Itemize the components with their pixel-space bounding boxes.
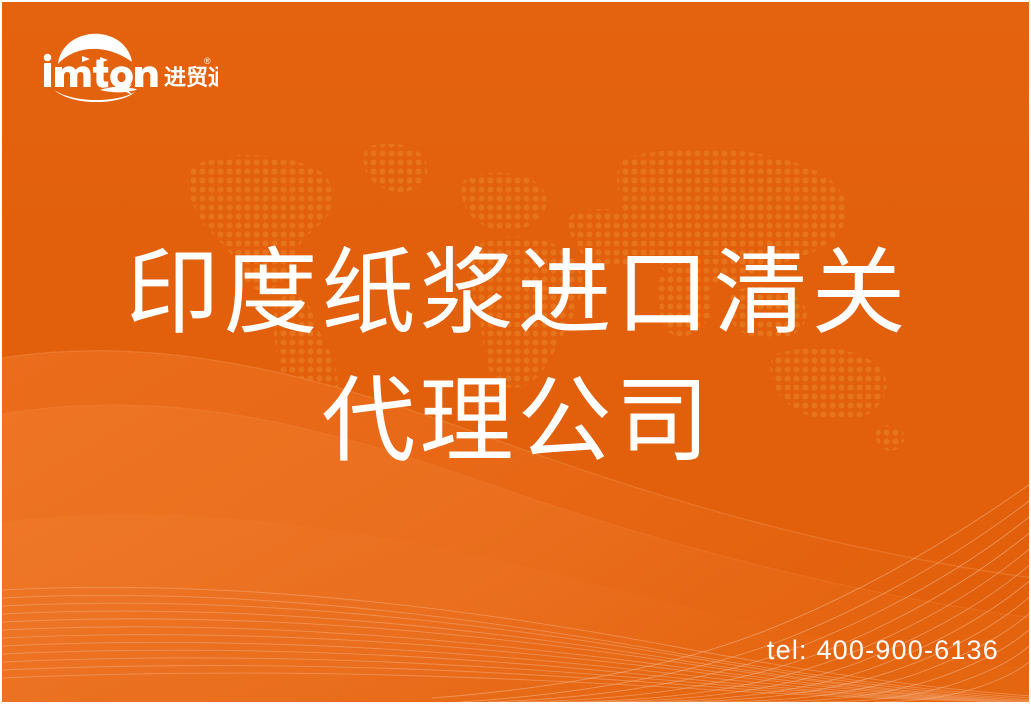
logo-chinese-name: 进贸通: [164, 66, 218, 91]
title-line-2: 代理公司: [2, 358, 1031, 486]
line-fan-decoration: [2, 472, 1031, 702]
brand-logo[interactable]: 进贸通 ®: [38, 30, 218, 102]
page-title: 印度纸浆进口清关 代理公司: [2, 230, 1031, 486]
title-line-1: 印度纸浆进口清关: [2, 230, 1031, 358]
registered-trademark-icon: ®: [204, 56, 211, 66]
promo-banner: 进贸通 ® 印度纸浆进口清关 代理公司 tel: 400-900-6136: [0, 0, 1031, 704]
globe-arc-icon: [58, 34, 132, 64]
contact-telephone: tel: 400-900-6136: [767, 635, 999, 666]
